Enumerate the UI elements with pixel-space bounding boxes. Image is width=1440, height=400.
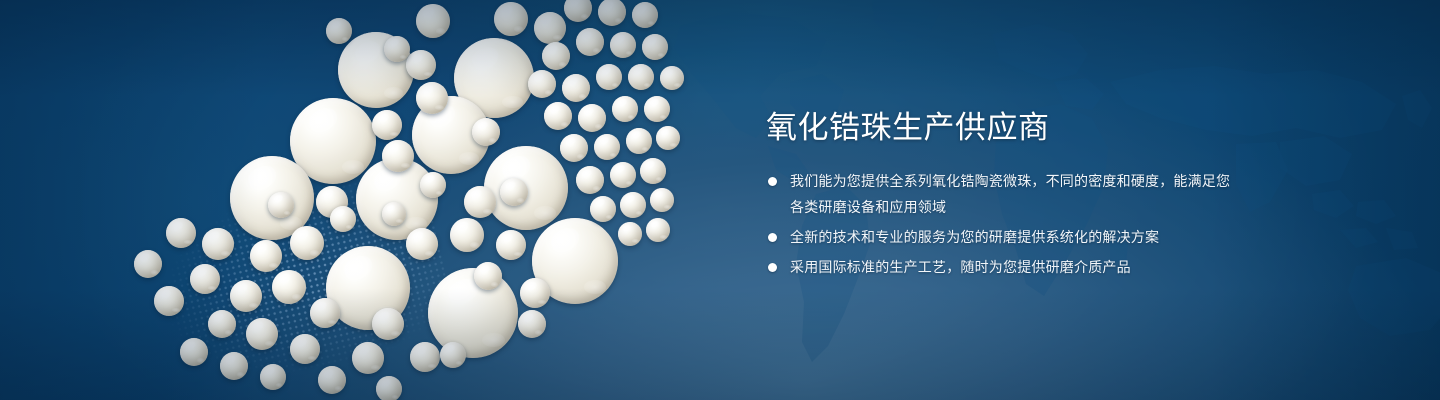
banner-vignette	[0, 0, 1440, 400]
hero-banner: 氧化锆珠生产供应商 我们能为您提供全系列氧化锆陶瓷微珠，不同的密度和硬度，能满足…	[0, 0, 1440, 400]
